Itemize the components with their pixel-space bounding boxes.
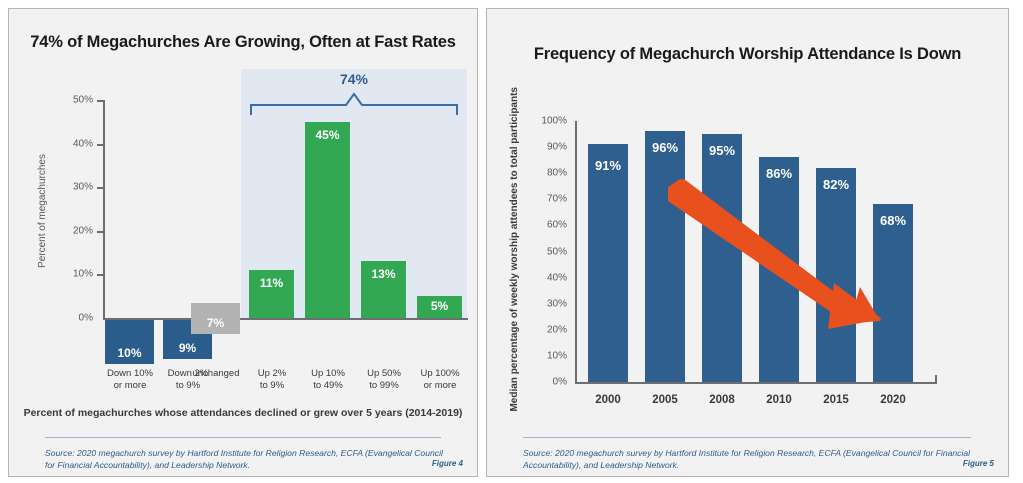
bar-2008[interactable]: 95%	[702, 134, 742, 382]
figure-panel-megachurch-growth: 74% of Megachurches Are Growing, Often a…	[8, 8, 478, 477]
y-axis-line-left	[103, 100, 105, 320]
y-axis-label-right: Median percentage of weekly worship atte…	[509, 87, 520, 412]
x-tick-label-2020: 2020	[853, 393, 933, 407]
y-tick-label: 60%	[523, 220, 567, 231]
bar-value-label: 82%	[816, 177, 856, 192]
bar-value-label: 68%	[873, 213, 913, 228]
brace-label: 74%	[241, 71, 467, 87]
bar-2020[interactable]: 68%	[873, 204, 913, 382]
x-axis-line-left	[103, 318, 468, 320]
bar-2015[interactable]: 82%	[816, 168, 856, 382]
y-tick-label: 0%	[523, 377, 567, 388]
bar-up-50-to-99[interactable]: 13%	[361, 261, 406, 318]
y-tick-label: 30%	[523, 298, 567, 309]
x-tick-label-up-100-or-more: Up 100% or more	[385, 368, 478, 392]
bar-2005[interactable]: 96%	[645, 131, 685, 382]
y-tick-label: 40%	[55, 138, 93, 149]
page-title-right: Frequency of Megachurch Worship Attendan…	[487, 45, 1008, 64]
y-tick-label: 90%	[523, 142, 567, 153]
bar-up-2-to-9[interactable]: 11%	[249, 270, 294, 318]
bar-value-label: 45%	[305, 128, 350, 142]
figure-panel-worship-attendance: Frequency of Megachurch Worship Attendan…	[486, 8, 1009, 477]
y-tick-label: 10%	[523, 350, 567, 361]
bar-down-10-or-more[interactable]: 10%	[105, 320, 154, 364]
y-axis-label-left: Percent of megachurches	[37, 154, 48, 268]
y-tick-label: 50%	[523, 246, 567, 257]
y-tick-label: 10%	[55, 269, 93, 280]
bar-value-label: 7%	[191, 316, 240, 330]
bar-value-label: 10%	[105, 346, 154, 360]
page-title-left: 74% of Megachurches Are Growing, Often a…	[9, 33, 477, 52]
bar-value-label: 96%	[645, 140, 685, 155]
y-tick-label: 80%	[523, 168, 567, 179]
x-axis-line-right	[575, 382, 937, 384]
x-tick-line-1: Up 100%	[385, 368, 478, 380]
bar-value-label: 5%	[417, 299, 462, 313]
figure-tag-right: Figure 5	[963, 459, 994, 468]
y-tick-label: 50%	[55, 95, 93, 106]
brace-shape-icon	[241, 91, 467, 119]
bar-value-label: 13%	[361, 267, 406, 281]
bar-value-label: 95%	[702, 143, 742, 158]
bar-up-100-or-more[interactable]: 5%	[417, 296, 462, 318]
bar-value-label: 91%	[588, 158, 628, 173]
bar-value-label: 11%	[249, 276, 294, 290]
y-tick-label: 100%	[523, 116, 567, 127]
bar-value-label: 9%	[163, 341, 212, 355]
x-axis-caption-left: Percent of megachurches whose attendance…	[9, 407, 477, 419]
bar-value-label: 86%	[759, 166, 799, 181]
y-tick-label: 0%	[55, 313, 93, 324]
footer-divider-left	[45, 437, 441, 438]
y-tick-label: 20%	[55, 225, 93, 236]
bar-2000[interactable]: 91%	[588, 144, 628, 382]
y-tick-label: 70%	[523, 194, 567, 205]
figure-pair-container: 74% of Megachurches Are Growing, Often a…	[0, 0, 1023, 483]
y-axis-line-right	[575, 121, 577, 384]
bar-up-10-to-49[interactable]: 45%	[305, 122, 350, 318]
y-tick-label: 20%	[523, 324, 567, 335]
bar-unchanged[interactable]: 7%	[191, 303, 240, 334]
figure-tag-left: Figure 4	[432, 459, 463, 468]
y-tick-label: 40%	[523, 272, 567, 283]
bar-2010[interactable]: 86%	[759, 157, 799, 382]
x-axis-end-cap-right	[935, 375, 937, 384]
y-tick-label: 30%	[55, 182, 93, 193]
source-note-left: Source: 2020 megachurch survey by Hartfo…	[45, 447, 445, 472]
source-note-right: Source: 2020 megachurch survey by Hartfo…	[523, 447, 975, 472]
brace-annotation-74: 74%	[241, 71, 467, 116]
x-tick-line-2: or more	[385, 380, 478, 392]
footer-divider-right	[523, 437, 971, 438]
